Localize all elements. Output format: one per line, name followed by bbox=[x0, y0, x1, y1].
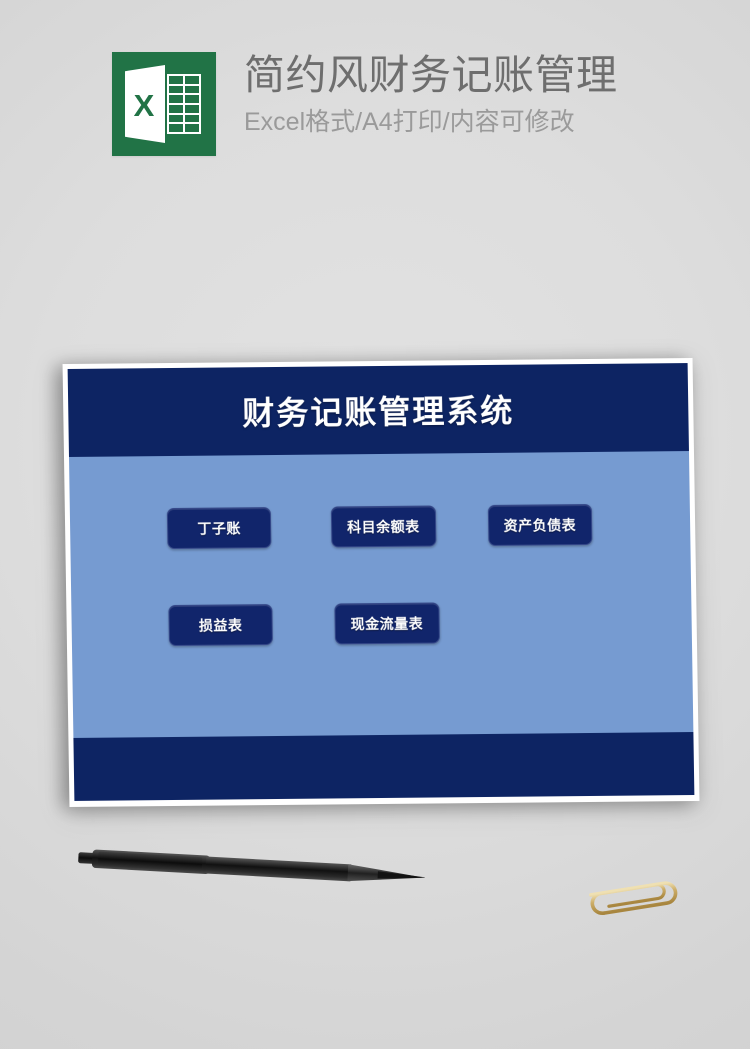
sheet-footer-banner bbox=[73, 732, 694, 801]
template-preview-card: 财务记账管理系统 丁子账 科目余额表 资产负债表 损益表 现金流量表 bbox=[63, 358, 700, 807]
nav-button-balance-sheet[interactable]: 资产负债表 bbox=[487, 504, 592, 546]
nav-button-row-1: 丁子账 科目余额表 资产负债表 bbox=[70, 503, 691, 550]
nav-button-trial-balance[interactable]: 科目余额表 bbox=[331, 505, 436, 547]
paperclip-icon bbox=[571, 870, 686, 929]
page-subtitle: Excel格式/A4打印/内容可修改 bbox=[244, 107, 618, 137]
header-text-block: 简约风财务记账管理 Excel格式/A4打印/内容可修改 bbox=[244, 52, 618, 137]
spacer bbox=[271, 506, 332, 548]
page-header: X 简约风财务记账管理 Excel格式/A4打印/内容可修改 bbox=[0, 0, 750, 200]
nav-button-t-account[interactable]: 丁子账 bbox=[167, 507, 272, 549]
sheet-header-banner: 财务记账管理系统 bbox=[68, 363, 689, 457]
sheet-body: 丁子账 科目余额表 资产负债表 损益表 现金流量表 bbox=[69, 451, 693, 738]
excel-icon: X bbox=[112, 52, 216, 156]
excel-grid-shape bbox=[167, 74, 201, 134]
spacer bbox=[435, 505, 488, 546]
spreadsheet-sheet: 财务记账管理系统 丁子账 科目余额表 资产负债表 损益表 现金流量表 bbox=[63, 358, 700, 807]
page-title: 简约风财务记账管理 bbox=[244, 52, 618, 99]
nav-button-income-statement[interactable]: 损益表 bbox=[168, 604, 273, 646]
spacer bbox=[272, 603, 335, 645]
nav-button-row-2: 损益表 现金流量表 bbox=[71, 600, 692, 647]
pen-icon bbox=[77, 843, 426, 892]
excel-letter-x: X bbox=[127, 90, 161, 121]
nav-button-cash-flow-statement[interactable]: 现金流量表 bbox=[334, 602, 439, 644]
system-title: 财务记账管理系统 bbox=[242, 386, 515, 435]
